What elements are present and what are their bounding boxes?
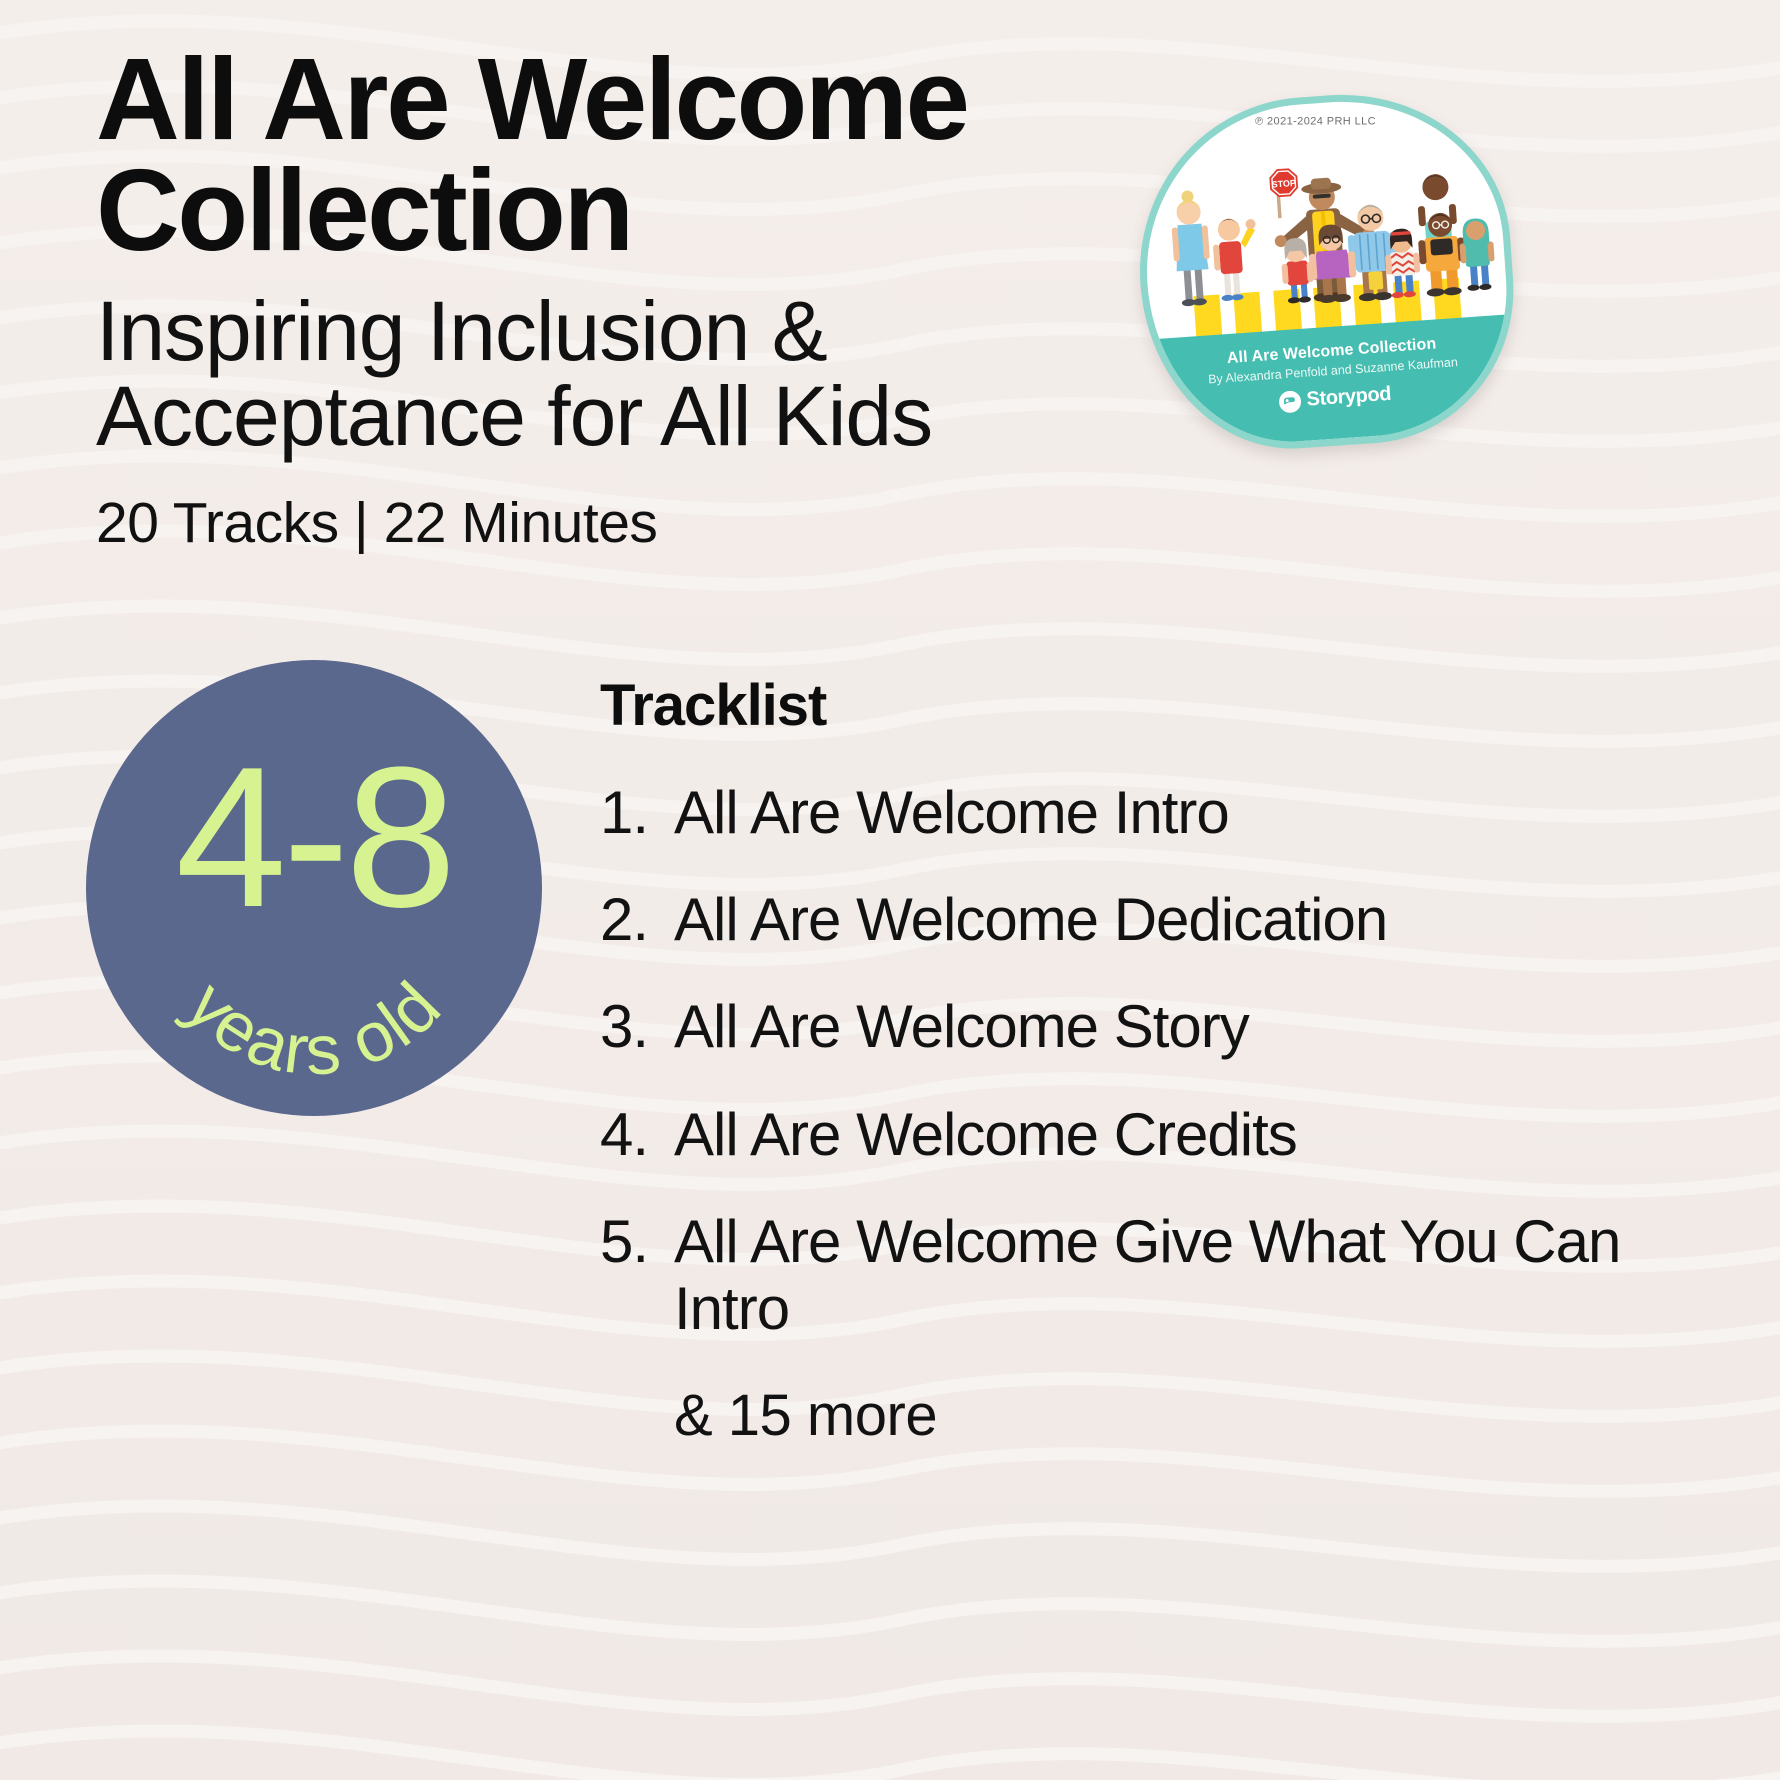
age-unit-curved-label: years old	[86, 660, 542, 1116]
subtitle-line-2: Acceptance for All Kids	[96, 369, 932, 463]
title-line-2: Collection	[96, 145, 632, 275]
child-hijab-figure	[1458, 217, 1497, 291]
brand-name: Storypod	[1306, 383, 1392, 412]
stop-sign-icon: STOP	[1269, 168, 1300, 219]
track-title: All Are Welcome Give What You Can Intro	[674, 1208, 1730, 1342]
list-item: 1. All Are Welcome Intro	[600, 779, 1730, 846]
track-number: 3.	[600, 993, 674, 1060]
poster-header: All Are Welcome Collection Inspiring Inc…	[96, 44, 1146, 556]
svg-text:STOP: STOP	[1271, 178, 1296, 190]
list-item: 5. All Are Welcome Give What You Can Int…	[600, 1208, 1730, 1342]
card-footer: All Are Welcome Collection By Alexandra …	[1151, 314, 1516, 451]
page-subtitle: Inspiring Inclusion & Acceptance for All…	[96, 289, 1146, 460]
track-number: 1.	[600, 779, 674, 846]
list-item: 2. All Are Welcome Dedication	[600, 886, 1730, 953]
track-count-duration: 20 Tracks | 22 Minutes	[96, 490, 1146, 556]
child-red-shirt-figure	[1211, 217, 1261, 302]
track-title: All Are Welcome Intro	[674, 779, 1730, 846]
tracklist-heading: Tracklist	[600, 672, 1730, 739]
track-number: 4.	[600, 1101, 674, 1168]
subtitle-line-1: Inspiring Inclusion &	[96, 284, 827, 378]
svg-text:years old: years old	[172, 966, 457, 1090]
page-title: All Are Welcome Collection	[96, 44, 1146, 267]
list-item: 3. All Are Welcome Story	[600, 993, 1730, 1060]
track-title: All Are Welcome Story	[674, 993, 1730, 1060]
storypod-logo-icon	[1278, 390, 1301, 413]
tracklist-items: 1. All Are Welcome Intro 2. All Are Welc…	[600, 779, 1730, 1342]
tote-bag	[1368, 271, 1383, 290]
additional-tracks-note: & 15 more	[600, 1382, 1730, 1449]
child-blue-dress-figure	[1169, 189, 1213, 307]
track-title: All Are Welcome Dedication	[674, 886, 1730, 953]
product-poster: All Are Welcome Collection Inspiring Inc…	[0, 0, 1780, 1780]
track-number: 2.	[600, 886, 674, 953]
product-card: ℗ 2021-2024 PRH LLC	[1140, 96, 1530, 466]
track-number: 5.	[600, 1208, 674, 1275]
age-unit-text: years old	[172, 966, 457, 1090]
storypod-craft-card: ℗ 2021-2024 PRH LLC	[1128, 83, 1524, 458]
card-copyright-text: ℗ 2021-2024 PRH LLC	[1137, 115, 1495, 127]
track-title: All Are Welcome Credits	[674, 1101, 1730, 1168]
tracklist-section: Tracklist 1. All Are Welcome Intro 2. Al…	[600, 672, 1730, 1449]
age-range-badge: 4-8 years old	[86, 660, 542, 1116]
list-item: 4. All Are Welcome Credits	[600, 1101, 1730, 1168]
